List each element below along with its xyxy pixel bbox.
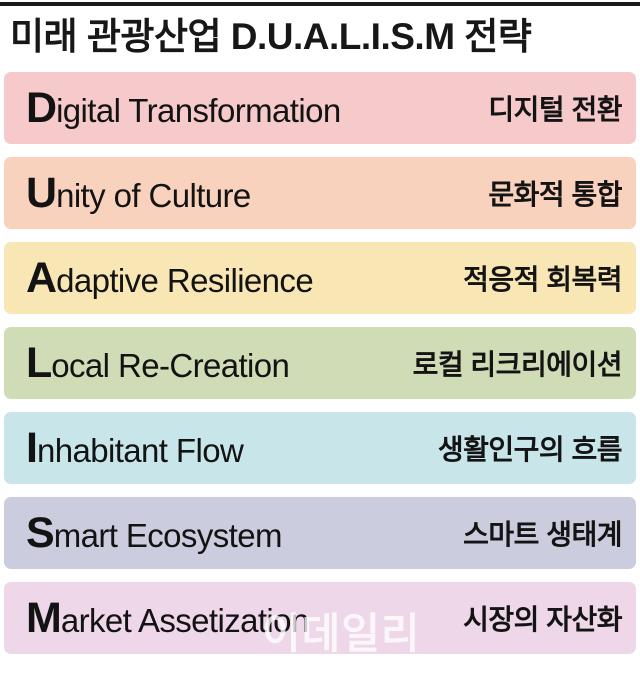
- strategy-english-label: Inhabitant Flow: [4, 427, 243, 470]
- strategy-english-label: Unity of Culture: [4, 172, 251, 215]
- strategy-english-remainder: daptive Resilience: [56, 264, 313, 297]
- strategy-row[interactable]: Adaptive Resilience적응적 회복력: [4, 242, 636, 314]
- strategy-korean-label: 시장의 자산화: [463, 582, 622, 654]
- dualism-strategy-infographic: 미래 관광산업 D.U.A.L.I.S.M 전략 Digital Transfo…: [0, 0, 640, 673]
- strategy-rows: Digital Transformation디지털 전환Unity of Cul…: [0, 72, 640, 672]
- strategy-english-remainder: igital Transformation: [56, 94, 341, 127]
- strategy-row[interactable]: Market Assetization시장의 자산화: [4, 582, 636, 654]
- strategy-english-label: Adaptive Resilience: [4, 257, 313, 300]
- strategy-english-label: Digital Transformation: [4, 87, 341, 130]
- strategy-english-remainder: ocal Re-Creation: [51, 349, 289, 382]
- strategy-row[interactable]: Inhabitant Flow생활인구의 흐름: [4, 412, 636, 484]
- strategy-korean-label: 생활인구의 흐름: [438, 412, 622, 484]
- strategy-initial-letter: S: [26, 512, 54, 555]
- strategy-korean-label: 디지털 전환: [488, 72, 622, 144]
- strategy-initial-letter: A: [26, 257, 56, 300]
- strategy-initial-letter: U: [26, 172, 56, 215]
- strategy-initial-letter: I: [26, 427, 37, 470]
- strategy-korean-label: 적응적 회복력: [463, 242, 622, 314]
- strategy-korean-label: 스마트 생태계: [463, 497, 622, 569]
- strategy-english-label: Market Assetization: [4, 597, 309, 640]
- strategy-row[interactable]: Unity of Culture문화적 통합: [4, 157, 636, 229]
- strategy-korean-label: 문화적 통합: [488, 157, 622, 229]
- strategy-english-remainder: nhabitant Flow: [37, 434, 243, 467]
- strategy-english-remainder: arket Assetization: [61, 604, 309, 637]
- strategy-english-remainder: mart Ecosystem: [54, 519, 282, 552]
- strategy-row[interactable]: Local Re-Creation로컬 리크리에이션: [4, 327, 636, 399]
- page-title: 미래 관광산업 D.U.A.L.I.S.M 전략: [10, 12, 630, 62]
- strategy-initial-letter: D: [26, 87, 56, 130]
- strategy-initial-letter: M: [26, 597, 61, 640]
- strategy-initial-letter: L: [26, 342, 51, 385]
- strategy-row[interactable]: Smart Ecosystem스마트 생태계: [4, 497, 636, 569]
- header-rule: [0, 2, 640, 6]
- strategy-korean-label: 로컬 리크리에이션: [413, 327, 622, 399]
- strategy-english-label: Smart Ecosystem: [4, 512, 282, 555]
- strategy-english-remainder: nity of Culture: [56, 179, 251, 212]
- strategy-english-label: Local Re-Creation: [4, 342, 289, 385]
- strategy-row[interactable]: Digital Transformation디지털 전환: [4, 72, 636, 144]
